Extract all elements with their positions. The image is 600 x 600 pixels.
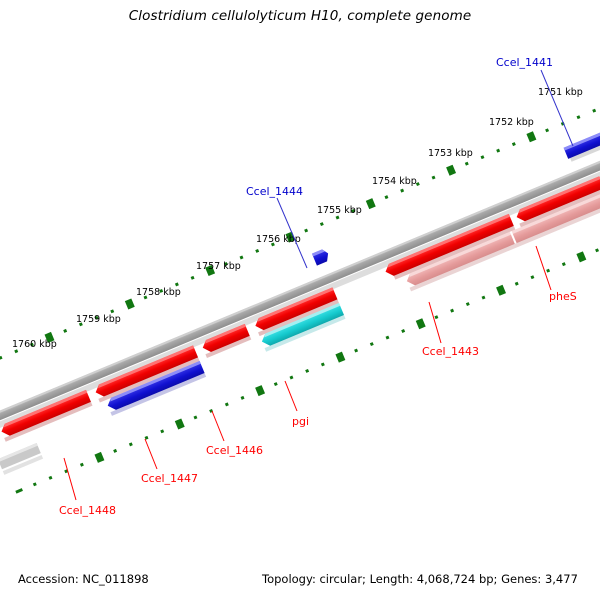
gene-label-ccel-1446: Ccel_1446 bbox=[206, 444, 263, 457]
ruler-tick-label: 1757 kbp bbox=[196, 261, 241, 272]
ruler-tick-label: 1754 kbp bbox=[372, 176, 417, 187]
gene-stub-gray[interactable] bbox=[0, 443, 43, 475]
leader-ccel-1448 bbox=[64, 458, 76, 500]
ruler-tick-label: 1759 kbp bbox=[76, 314, 121, 325]
gene-label-ccel-1444: Ccel_1444 bbox=[246, 185, 303, 198]
ruler-tick-label: 1751 kbp bbox=[538, 87, 583, 98]
status-genome-info: Topology: circular; Length: 4,068,724 bp… bbox=[262, 572, 578, 586]
gene-label-pgi: pgi bbox=[292, 415, 309, 428]
ruler-tick-label: 1752 kbp bbox=[489, 117, 534, 128]
leader-ccel-1447 bbox=[145, 439, 157, 469]
ruler-tick-label: 1755 kbp bbox=[317, 205, 362, 216]
leader-ccel-1441 bbox=[541, 70, 573, 146]
genome-map-canvas[interactable]: 1751 kbp 1752 kbp 1753 kbp 1754 kbp 1755… bbox=[0, 0, 600, 600]
leader-phes bbox=[536, 246, 551, 290]
ruler-tick-label: 1756 kbp bbox=[256, 234, 301, 245]
ruler-rail-lower bbox=[14, 226, 600, 496]
gene-label-ccel-1441: Ccel_1441 bbox=[496, 56, 553, 69]
leader-pgi bbox=[285, 381, 297, 411]
ruler-tick-label: 1760 kbp bbox=[12, 339, 57, 350]
status-bar: Accession: NC_011898 Topology: circular;… bbox=[0, 564, 600, 600]
gene-label-ccel-1448: Ccel_1448 bbox=[59, 504, 116, 517]
leader-ccel-1444 bbox=[277, 198, 307, 268]
gene-label-ccel-1447: Ccel_1447 bbox=[141, 472, 198, 485]
gene-feature-ccel-1444[interactable] bbox=[312, 248, 331, 266]
status-accession: Accession: NC_011898 bbox=[18, 572, 149, 586]
genome-viewer-panel: Clostridium cellulolyticum H10, complete… bbox=[0, 0, 600, 600]
leader-ccel-1443 bbox=[429, 302, 441, 343]
gene-label-phes: pheS bbox=[549, 290, 577, 303]
ruler-tick-label: 1753 kbp bbox=[428, 148, 473, 159]
gene-feature-ccel-1441[interactable] bbox=[564, 119, 600, 162]
leader-ccel-1446 bbox=[212, 411, 224, 441]
gene-label-ccel-1443: Ccel_1443 bbox=[422, 345, 479, 358]
ruler-tick-label: 1758 kbp bbox=[136, 287, 181, 298]
